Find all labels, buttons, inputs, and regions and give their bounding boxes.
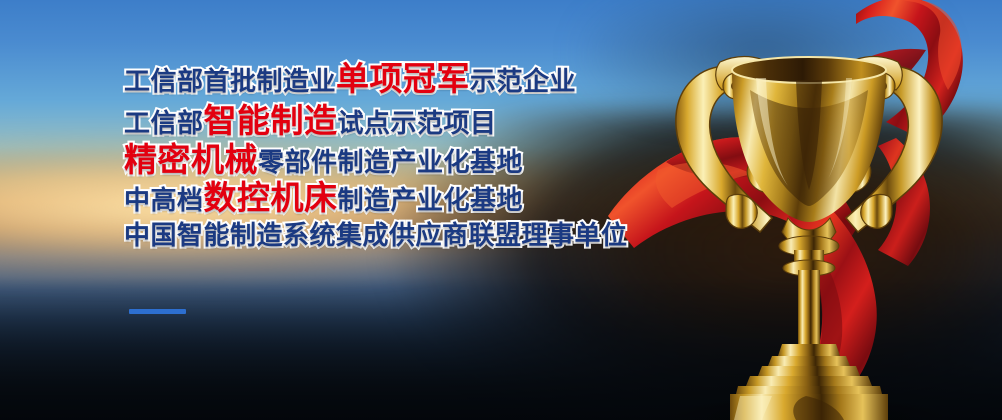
headline-line-2-highlight: 智能制造 (204, 104, 338, 137)
headline-line-2-segment-3: 试点示范项目 (338, 110, 497, 136)
blue-accent-rule (129, 309, 186, 314)
headline-line-1-highlight: 单项冠军 (336, 62, 470, 95)
headline-line-3: 精密机械零部件制造产业化基地 (124, 143, 644, 176)
headline-line-5: 中国智能制造系统集成供应商联盟理事单位 (124, 222, 644, 248)
headline-line-3-highlight: 精密机械 (124, 143, 258, 176)
headline-line-3-segment-2: 零部件制造产业化基地 (258, 149, 523, 175)
trophy-base (659, 344, 959, 420)
headline-line-5-segment-1: 中国智能制造系统集成供应商联盟理事单位 (124, 222, 628, 248)
headline-line-4-segment-1: 中高档 (124, 187, 204, 213)
headline-line-4: 中高档数控机床制造产业化基地 (124, 181, 644, 214)
trophy-illustration (600, 0, 1002, 420)
headline-line-1-segment-3: 示范企业 (470, 68, 576, 94)
headline-line-1: 工信部首批制造业单项冠军示范企业 (124, 62, 644, 95)
headline-line-1-segment-1: 工信部首批制造业 (124, 68, 336, 94)
headline-text-block: 工信部首批制造业单项冠军示范企业 工信部智能制造试点示范项目 精密机械零部件制造… (124, 62, 644, 248)
headline-line-2-segment-1: 工信部 (124, 110, 204, 136)
headline-line-4-segment-3: 制造产业化基地 (338, 187, 524, 213)
headline-line-2: 工信部智能制造试点示范项目 (124, 104, 644, 137)
headline-line-4-highlight: 数控机床 (204, 181, 338, 214)
award-banner: 工信部首批制造业单项冠军示范企业 工信部智能制造试点示范项目 精密机械零部件制造… (0, 0, 1002, 420)
